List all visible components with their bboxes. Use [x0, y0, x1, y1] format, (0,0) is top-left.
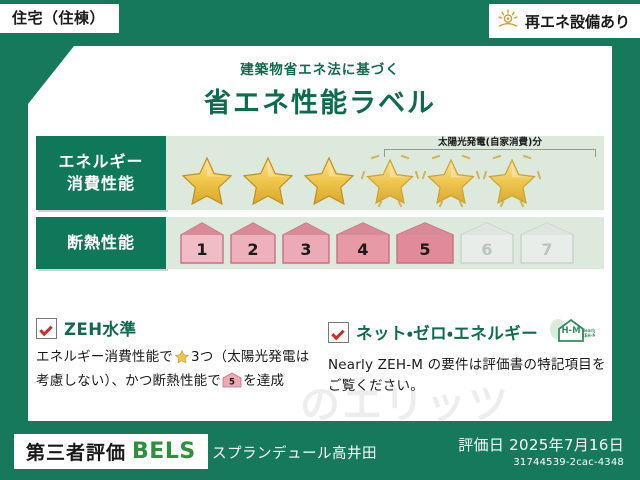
insulation-chip-number: 2: [228, 240, 278, 259]
zeh-m-logo-icon: H-M Nearly ZEH-M: [547, 316, 595, 348]
red-check-icon: [328, 322, 349, 343]
star-icon: [178, 152, 236, 208]
sun-icon: [497, 9, 519, 33]
criteria-columns: ZEH水準 エネルギー消費性能で3つ（太陽光発電は考慮しない）、かつ断熱性能で5…: [36, 316, 606, 397]
evaluation-info: 評価日 2025年7月16日 31744539-2cac-4348: [458, 434, 624, 468]
red-check-icon: [36, 318, 57, 339]
insulation-chip-number: 3: [280, 240, 332, 259]
renewable-equipment-badge: 再エネ設備あり: [489, 4, 640, 38]
star-icon: [300, 152, 358, 208]
label-footer: 第三者評価 BELS スプランデュール高井田 評価日 2025年7月16日 31…: [0, 428, 640, 480]
svg-text:ZEH-M: ZEH-M: [582, 333, 595, 338]
svg-text:H-M: H-M: [562, 326, 581, 336]
nzeb-title: ネット・ゼロ・エネルギー: [356, 320, 538, 344]
insulation-chip-number: 6: [458, 240, 516, 259]
bels-en-label: BELS: [132, 439, 196, 464]
zeh-body-3: を達成: [243, 373, 284, 389]
energy-performance-stars-area: 太陽光発電(自家消費)分: [166, 136, 604, 210]
energy-label-line2: 消費性能: [67, 173, 135, 195]
evaluation-date: 評価日 2025年7月16日: [458, 434, 624, 455]
zeh-standard-column: ZEH水準 エネルギー消費性能で3つ（太陽光発電は考慮しない）、かつ断熱性能で5…: [36, 316, 314, 397]
insulation-performance-label-box: 断熱性能: [36, 217, 166, 269]
insulation-chip-number: 5: [394, 240, 456, 259]
star-icon-solar: [361, 152, 419, 208]
energy-performance-row: エネルギー 消費性能 太陽光発電(自家消費)分: [36, 136, 604, 210]
insulation-chip-3: 3: [280, 221, 332, 265]
bels-badge: 第三者評価 BELS: [14, 434, 208, 469]
insulation-label: 断熱性能: [67, 232, 135, 254]
renewable-badge-label: 再エネ設備あり: [525, 11, 630, 32]
svg-text:5: 5: [229, 377, 235, 387]
category-tag: 住宅（住棟）: [0, 4, 119, 33]
star-icon-solar: [422, 152, 480, 208]
insulation-chip-4: 4: [334, 221, 392, 265]
insulation-chip-number: 1: [178, 240, 226, 259]
ratings-section: エネルギー 消費性能 太陽光発電(自家消費)分: [36, 136, 604, 276]
insulation-chip-2: 2: [228, 221, 278, 265]
zeh-body-1: エネルギー消費性能で: [36, 349, 173, 365]
insulation-chip-1: 1: [178, 221, 226, 265]
star-icon-solar: [483, 152, 541, 208]
nzeb-heading: ネット・ゼロ・エネルギー H-M Nearly ZEH-M: [328, 316, 606, 348]
star-rating: [166, 152, 541, 208]
zeh-description: エネルギー消費性能で3つ（太陽光発電は考慮しない）、かつ断熱性能で5を達成: [36, 347, 314, 395]
insulation-levels-area: 1234567: [166, 217, 604, 269]
insulation-level-chips: 1234567: [166, 221, 576, 265]
zeh-title: ZEH水準: [64, 316, 137, 340]
evaluation-id: 31744539-2cac-4348: [458, 457, 624, 468]
energy-performance-label-box: エネルギー 消費性能: [36, 136, 166, 210]
star-icon-inline: [174, 352, 190, 368]
energy-label-line1: エネルギー: [58, 151, 143, 173]
house-icon-inline: 5: [222, 376, 242, 392]
insulation-chip-5: 5: [394, 221, 456, 265]
zeh-heading: ZEH水準: [36, 316, 314, 340]
nzeb-description: Nearly ZEH-M の要件は評価書の特記項目をご覧ください。: [328, 355, 606, 397]
star-icon: [239, 152, 297, 208]
insulation-performance-row: 断熱性能 1234567: [36, 217, 604, 269]
solar-bracket-label: 太陽光発電(自家消費)分: [384, 138, 596, 148]
bels-jp-label: 第三者評価: [26, 438, 126, 465]
insulation-chip-number: 4: [334, 240, 392, 259]
energy-performance-label: 住宅（住棟） 再エネ設備あり 建築物省エネ法に基づく 省エネ性能ラベル: [0, 0, 640, 480]
insulation-chip-number: 7: [518, 240, 576, 259]
net-zero-energy-column: ネット・ゼロ・エネルギー H-M Nearly ZEH-M Nearly ZEH…: [328, 316, 606, 397]
insulation-chip-6: 6: [458, 221, 516, 265]
insulation-chip-7: 7: [518, 221, 576, 265]
property-name: スプランデュール高井田: [212, 442, 377, 463]
